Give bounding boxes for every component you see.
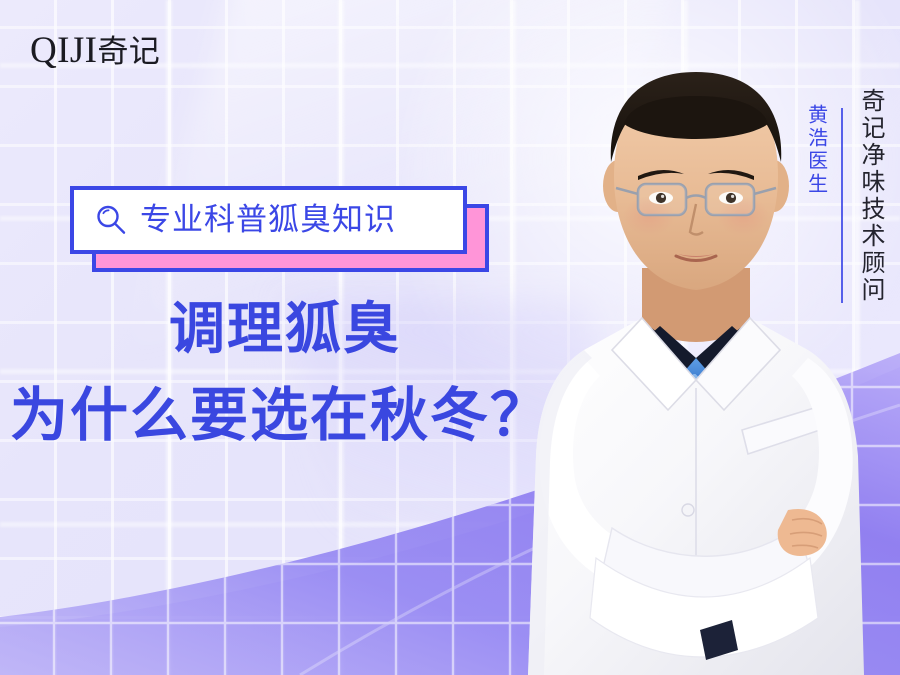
headline-line-1: 调理狐臭: [0, 300, 560, 359]
search-icon: [94, 203, 128, 237]
logo-latin-text: QIJI: [30, 30, 97, 71]
doctor-role: 奇记净味技术顾问: [857, 88, 884, 304]
credits-block: 黄浩医生 奇记净味技术顾问: [805, 88, 884, 304]
poster-canvas: QIJI奇记 专业科普狐臭知识 调理狐臭 为什么要选在秋冬？ 黄浩医生 奇记净味…: [0, 0, 900, 675]
logo-chinese-text: 奇记: [97, 34, 160, 70]
brand-logo: QIJI奇记: [30, 32, 160, 69]
headline-line-2: 为什么要选在秋冬？: [0, 385, 560, 446]
topic-badge: 专业科普狐臭知识: [70, 186, 495, 276]
badge-label: 专业科普狐臭知识: [140, 205, 396, 236]
headline-block: 调理狐臭 为什么要选在秋冬？: [0, 300, 560, 447]
doctor-name: 黄浩医生: [805, 104, 828, 196]
badge-box: 专业科普狐臭知识: [70, 186, 467, 254]
credits-divider: [841, 108, 843, 303]
